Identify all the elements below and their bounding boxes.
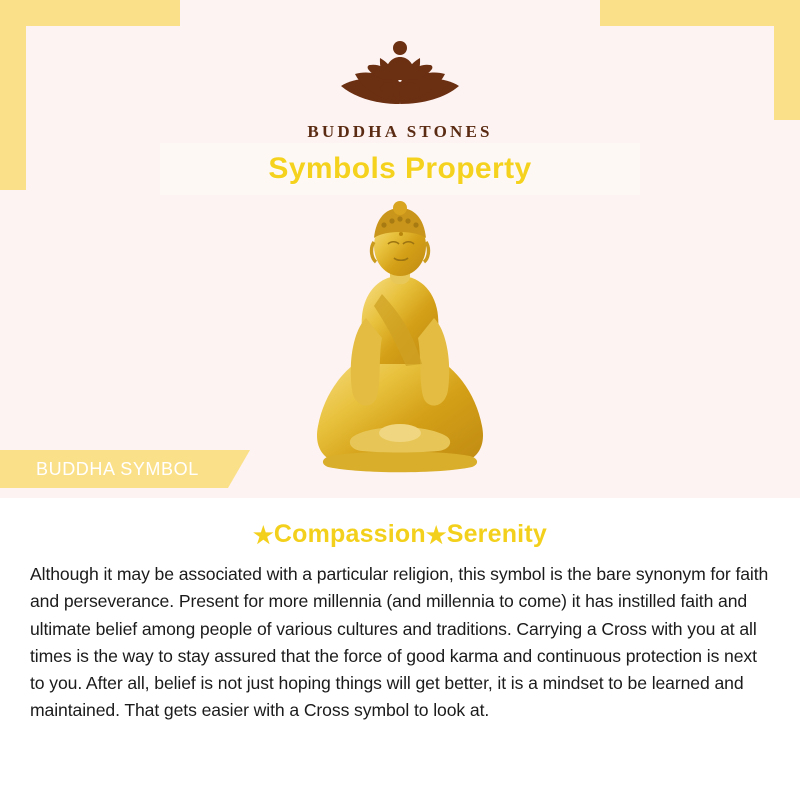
content-panel: ★Compassion★Serenity Although it may be … (0, 498, 800, 800)
page-title: Symbols Property (268, 152, 531, 186)
brand-name: BUDDHA STONES (0, 122, 800, 142)
subtitle-word-two: Serenity (447, 520, 547, 548)
corner-decor-top-left-horizontal (0, 0, 180, 26)
title-bar: Symbols Property (160, 143, 640, 195)
lotus-meditation-icon (305, 26, 495, 118)
golden-buddha-icon (270, 198, 530, 488)
star-icon-right: ★ (426, 522, 447, 548)
subtitle-word-one: Compassion (274, 520, 426, 548)
content-paragraph: Although it may be associated with a par… (30, 561, 770, 725)
section-label-text: BUDDHA SYMBOL (36, 459, 199, 480)
page-root: BUDDHA STONES Symbols Property (0, 0, 800, 800)
corner-decor-top-right-horizontal (600, 0, 800, 26)
star-icon-left: ★ (253, 522, 274, 548)
content-subtitle: ★Compassion★Serenity (30, 520, 770, 549)
section-label-ribbon: BUDDHA SYMBOL (0, 450, 250, 488)
brand-block: BUDDHA STONES (0, 26, 800, 142)
